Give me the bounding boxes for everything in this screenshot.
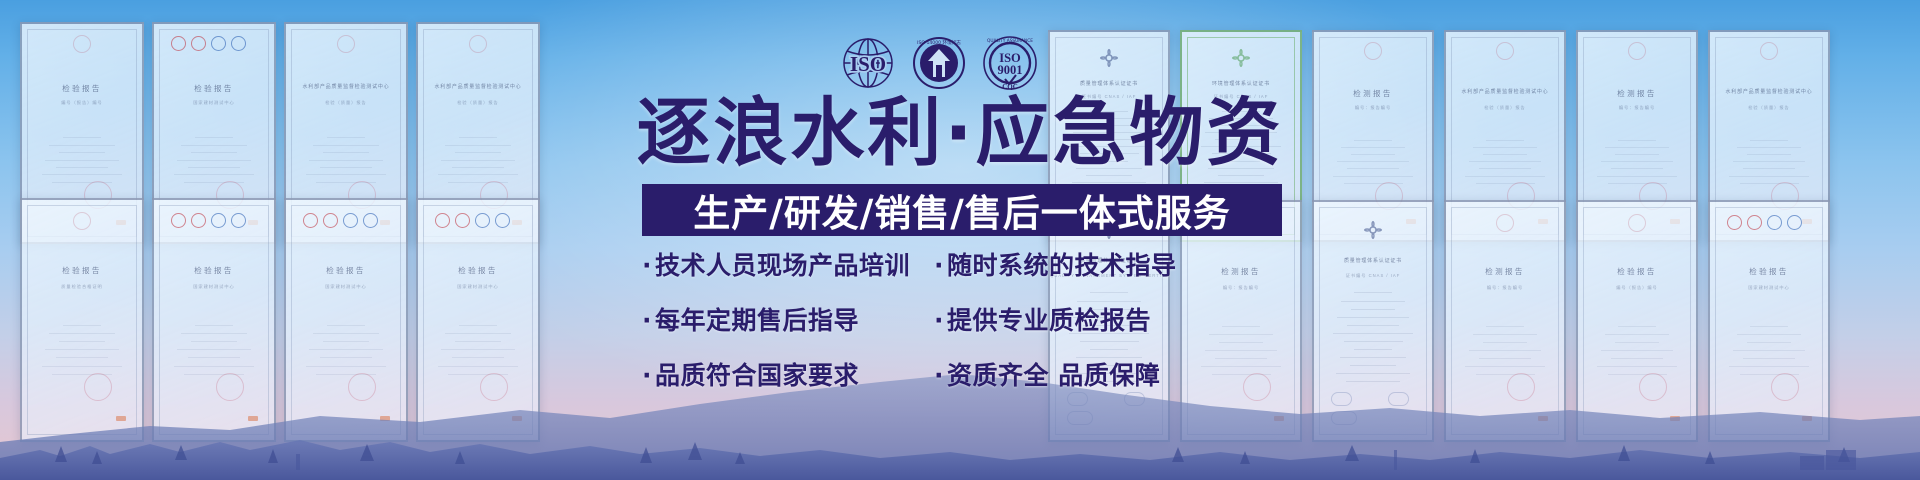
feature-text: 资质齐全 品质保障 [947,361,1160,390]
feature-row: ·技术人员现场产品培训 ·随时系统的技术指导 [642,246,1287,282]
feature-item: ·品质符合国家要求 [642,356,934,392]
bullet-dot: · [642,251,652,280]
feature-list: ·技术人员现场产品培训 ·随时系统的技术指导 ·每年定期售后指导 ·提供专业质检… [642,246,1287,392]
feature-item: ·技术人员现场产品培训 [642,246,934,282]
feature-text: 品质符合国家要求 [655,361,859,390]
feature-item: ·资质齐全 品质保障 [934,356,1160,392]
svg-text:ISO 14000 环境标志: ISO 14000 环境标志 [917,39,961,46]
feature-text: 提供专业质检报告 [947,306,1151,335]
banner-content: ISO ISO 14000 环境标志 ISO [0,0,1920,480]
svg-text:9001: 9001 [998,63,1023,77]
feature-item: ·随时系统的技术指导 [934,246,1177,282]
iso-globe-logo: ISO [840,37,896,94]
bullet-dot: · [934,306,944,335]
feature-row: ·每年定期售后指导 ·提供专业质检报告 [642,301,1287,337]
bullet-dot: · [642,361,652,390]
feature-text: 技术人员现场产品培训 [655,251,910,280]
service-tagline-bar: 生产/研发/销售/售后一体式服务 [642,184,1282,236]
bullet-dot: · [642,306,652,335]
certification-badge-row: ISO ISO 14000 环境标志 ISO [840,36,1090,94]
bullet-dot: · [934,251,944,280]
banner-main-title: 逐浪水利·应急物资 [0,96,1920,170]
iso-9001-cqc-logo: ISO 9001 QUALITY ASSURANCE CQC [982,35,1038,96]
service-tagline-text: 生产/研发/销售/售后一体式服务 [693,183,1231,237]
feature-item: ·每年定期售后指导 [642,301,934,337]
feature-text: 每年定期售后指导 [655,306,859,335]
feature-text: 随时系统的技术指导 [947,251,1177,280]
promotional-banner: 检验报告编号（报告）编号检验报告国家建材测试中心水利部产品质量监督检验测试中心检… [0,0,1920,480]
china-quality-mark-logo: ISO 14000 环境标志 [912,36,966,95]
feature-item: ·提供专业质检报告 [934,301,1151,337]
svg-text:ISO: ISO [850,52,886,76]
bullet-dot: · [934,361,944,390]
feature-row: ·品质符合国家要求 ·资质齐全 品质保障 [642,356,1287,392]
svg-text:QUALITY ASSURANCE: QUALITY ASSURANCE [987,38,1033,44]
